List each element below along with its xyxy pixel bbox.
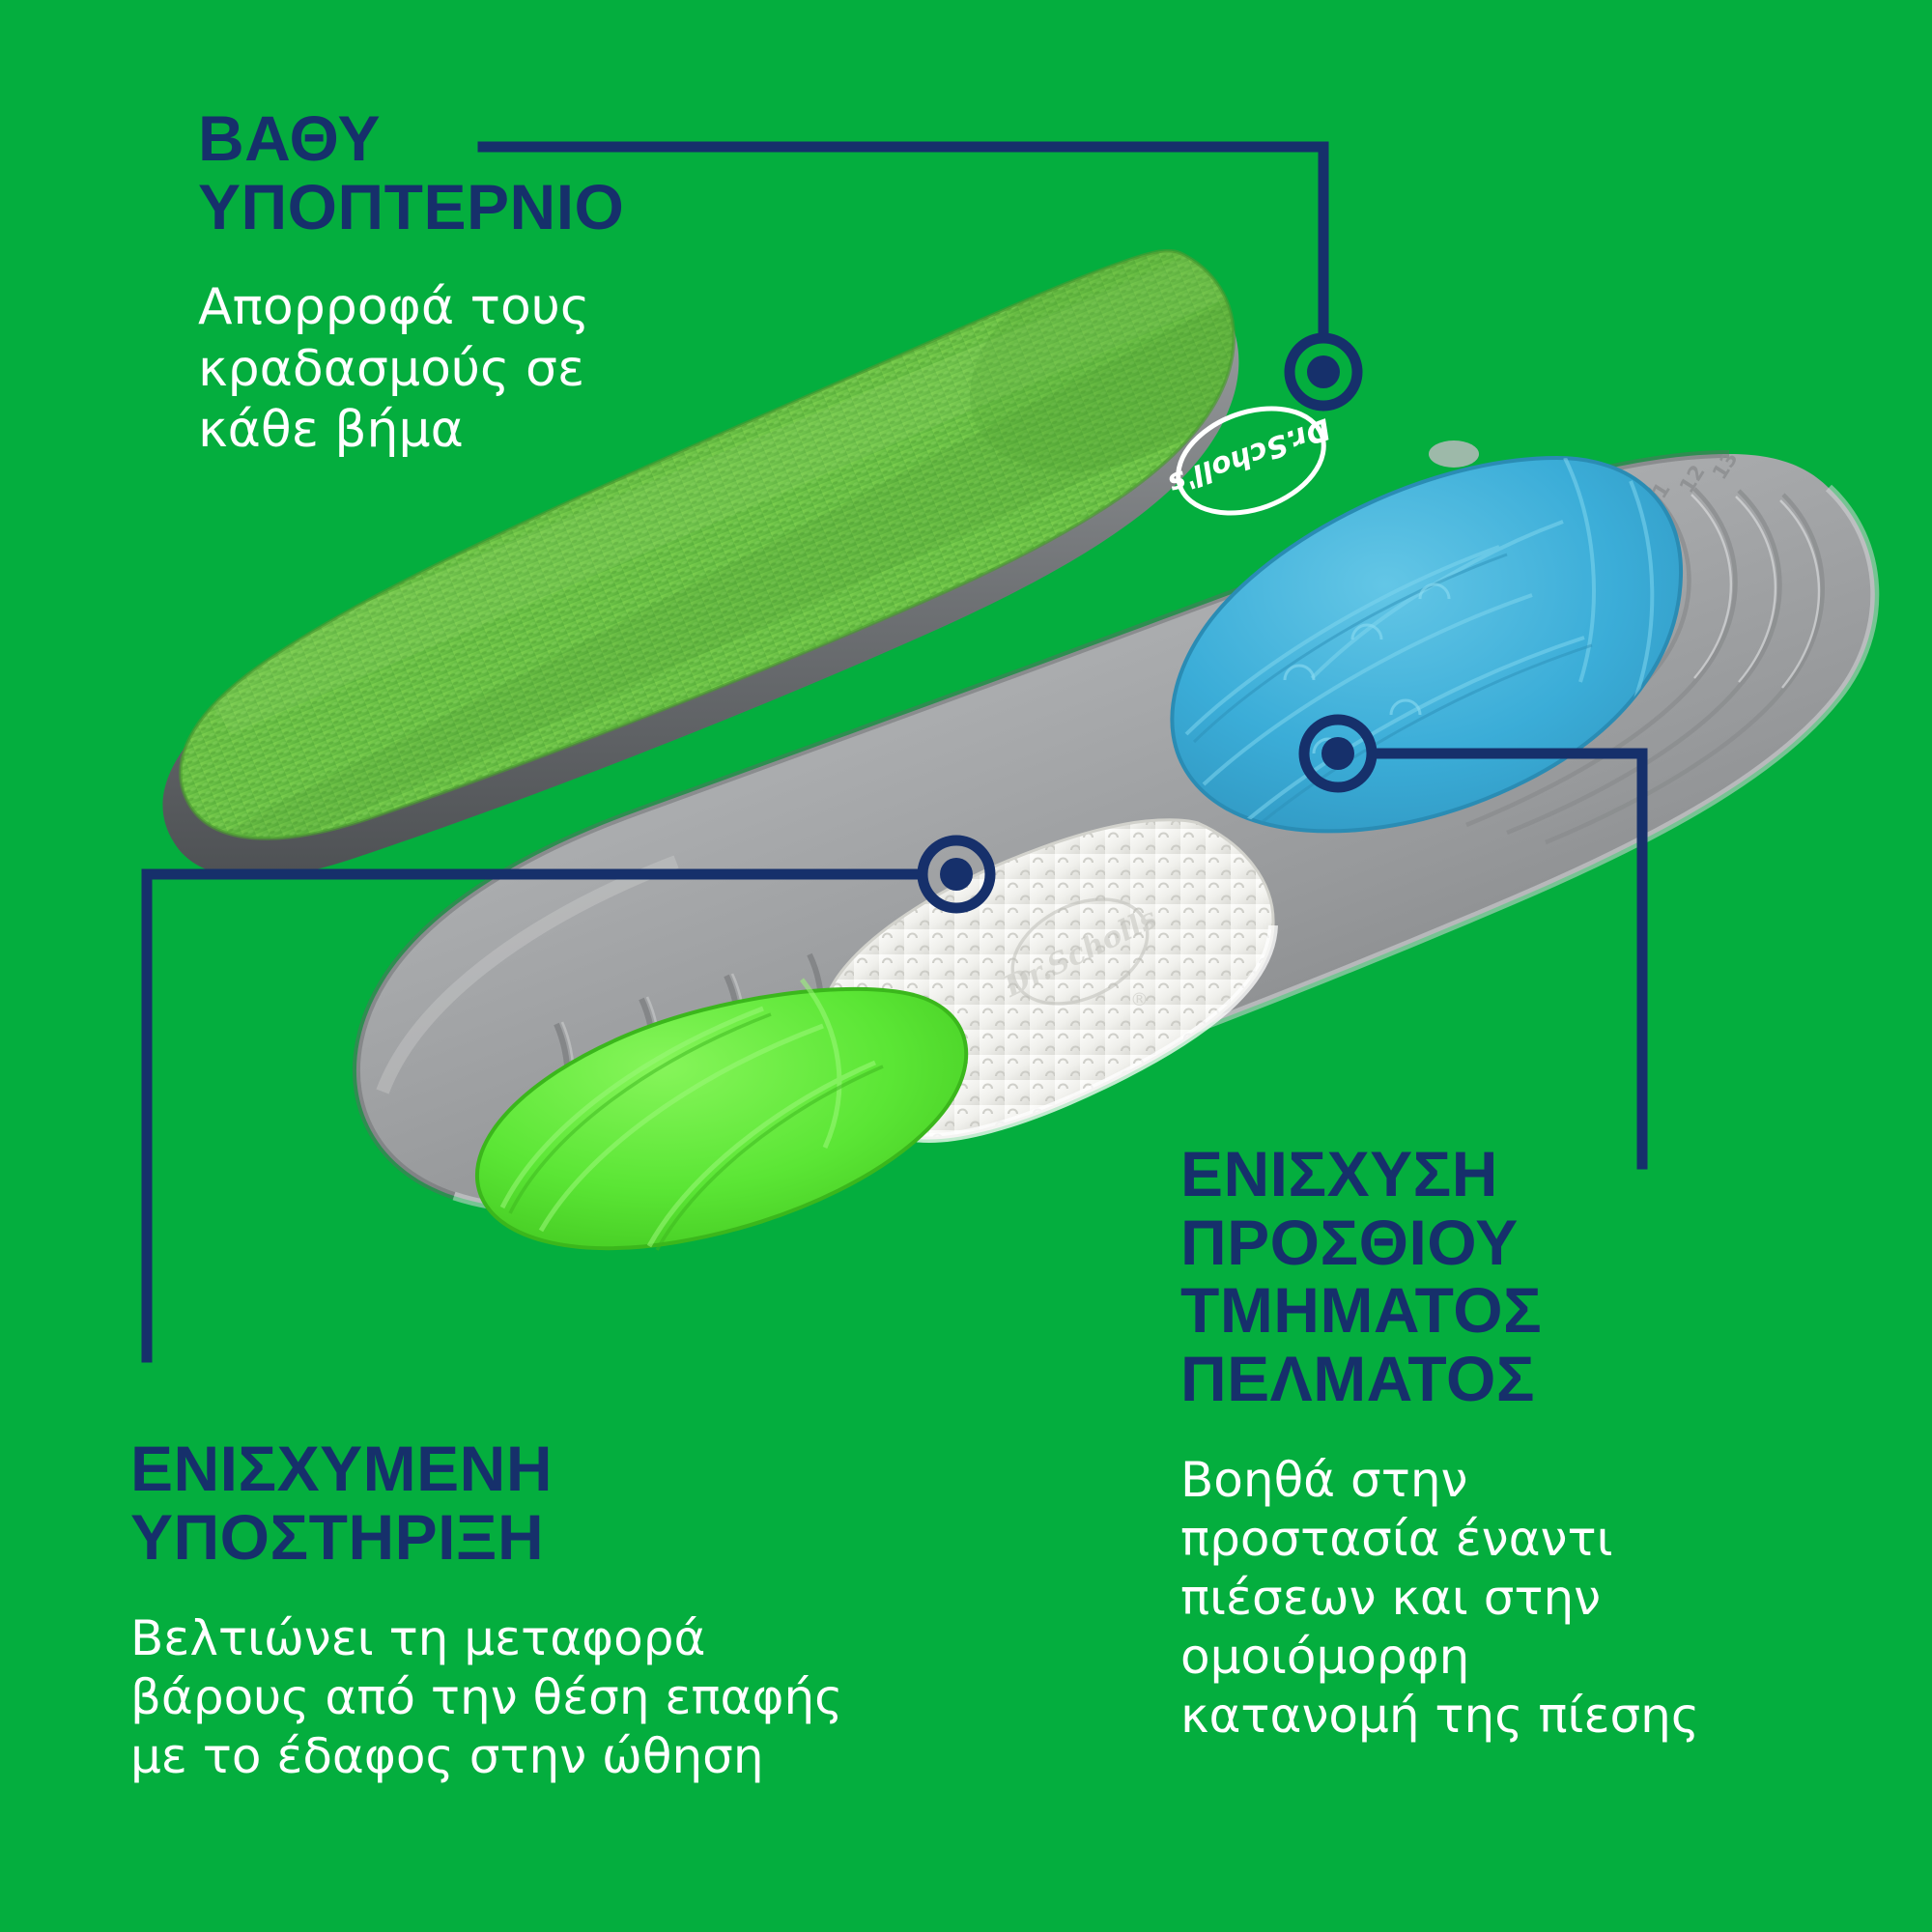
svg-text:®: ® [1130, 989, 1149, 1010]
body-deep-heel-cup: Απορροφά τους κραδασμούς σε κάθε βήμα [198, 277, 913, 461]
heading-forefoot-reinforcement: ΕΝΙΣΧΥΣΗ ΠΡΟΣΘΙΟΥ ΤΜΗΜΑΤΟΣ ΠΕΛΜΑΤΟΣ [1180, 1140, 1915, 1412]
infographic-canvas: 8 9 10 11 12 13 [0, 0, 1932, 1932]
callout-block-reinforced-support: ΕΝΙΣΧΥΜΕΝΗ ΥΠΟΣΤΗΡΙΞΗ Βελτιώνει τη μεταφ… [130, 1435, 1000, 1786]
heading-deep-heel-cup: ΒΑΘΥ ΥΠΟΠΤΕΡΝΙΟ [198, 104, 913, 241]
heading-reinforced-support: ΕΝΙΣΧΥΜΕΝΗ ΥΠΟΣΤΗΡΙΞΗ [130, 1435, 1000, 1571]
body-forefoot-reinforcement: Βοηθά στην προστασία έναντι πιέσεων και … [1180, 1451, 1915, 1746]
callout-block-forefoot-reinforcement: ΕΝΙΣΧΥΣΗ ΠΡΟΣΘΙΟΥ ΤΜΗΜΑΤΟΣ ΠΕΛΜΑΤΟΣ Βοηθ… [1180, 1140, 1915, 1746]
callout-block-deep-heel-cup: ΒΑΘΥ ΥΠΟΠΤΕΡΝΙΟ Απορροφά τους κραδασμούς… [198, 104, 913, 462]
body-reinforced-support: Βελτιώνει τη μεταφορά βάρους από την θέσ… [130, 1609, 1000, 1786]
